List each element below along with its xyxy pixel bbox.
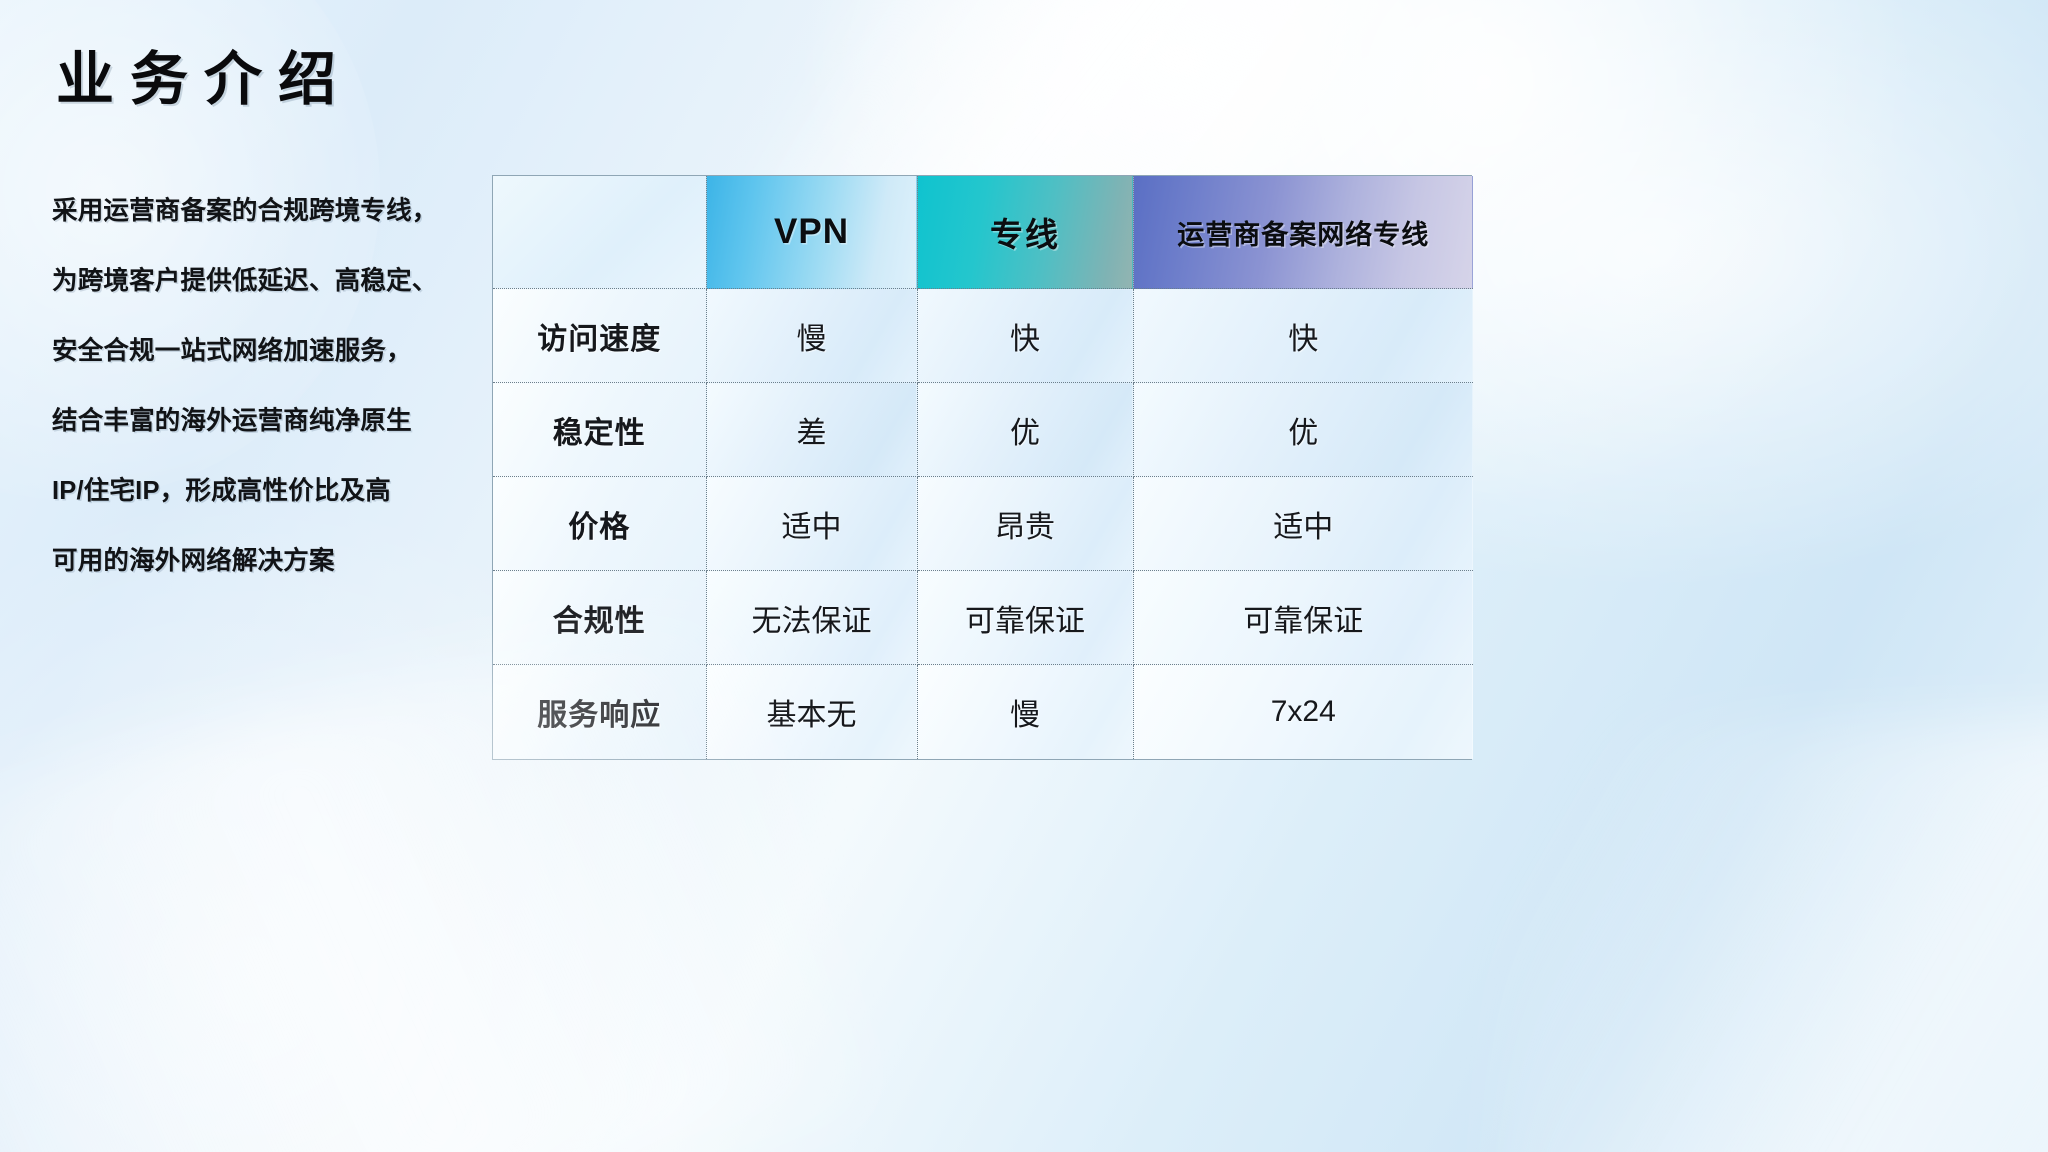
table-header-row: VPN 专线 运营商备案网络专线: [493, 176, 1473, 289]
cell-dedicated-line: 慢: [917, 665, 1133, 759]
header-label-carrier-registered-line: 运营商备案网络专线: [1177, 213, 1429, 252]
table-row: 访问速度 慢 快 快: [493, 289, 1473, 383]
header-label-dedicated-line: 专线: [990, 208, 1060, 256]
cell-dedicated-line: 可靠保证: [917, 571, 1133, 665]
row-label: 访问速度: [493, 289, 706, 383]
cell-carrier-registered-line: 7x24: [1133, 665, 1473, 759]
page-title: 业务介绍: [56, 48, 352, 112]
cell-dedicated-line: 优: [917, 383, 1133, 477]
table-row: 合规性 无法保证 可靠保证 可靠保证: [493, 571, 1473, 665]
intro-line: 结合丰富的海外运营商纯净原生: [52, 386, 482, 456]
cell-dedicated-line: 快: [917, 289, 1133, 383]
table-row: 稳定性 差 优 优: [493, 383, 1473, 477]
intro-line: 安全合规一站式网络加速服务，: [52, 316, 482, 386]
header-cell-vpn: VPN: [706, 176, 917, 289]
header-cell-carrier-registered-line: 运营商备案网络专线: [1133, 176, 1473, 289]
slide-canvas: 业务介绍 采用运营商备案的合规跨境专线， 为跨境客户提供低延迟、高稳定、 安全合…: [0, 0, 2048, 1152]
cell-vpn: 慢: [706, 289, 917, 383]
background-glow-bottom-right: [1500, 720, 2048, 1152]
intro-line: 可用的海外网络解决方案: [52, 526, 482, 596]
header-cell-blank: [493, 176, 706, 289]
table-body: 访问速度 慢 快 快 稳定性 差 优 优 价格 适中 昂贵 适中: [493, 289, 1473, 760]
comparison-table-grid: VPN 专线 运营商备案网络专线 访问速度 慢 快 快: [493, 176, 1473, 759]
cell-carrier-registered-line: 优: [1133, 383, 1473, 477]
table-row: 服务响应 基本无 慢 7x24: [493, 665, 1473, 759]
intro-line: 采用运营商备案的合规跨境专线，: [52, 176, 482, 246]
cell-vpn: 差: [706, 383, 917, 477]
cell-carrier-registered-line: 快: [1133, 289, 1473, 383]
intro-paragraph: 采用运营商备案的合规跨境专线， 为跨境客户提供低延迟、高稳定、 安全合规一站式网…: [52, 176, 482, 596]
intro-line: 为跨境客户提供低延迟、高稳定、: [52, 246, 482, 316]
cell-vpn: 适中: [706, 477, 917, 571]
row-label: 合规性: [493, 571, 706, 665]
cell-carrier-registered-line: 适中: [1133, 477, 1473, 571]
row-label: 稳定性: [493, 383, 706, 477]
table-row: 价格 适中 昂贵 适中: [493, 477, 1473, 571]
header-cell-dedicated-line: 专线: [917, 176, 1133, 289]
cell-carrier-registered-line: 可靠保证: [1133, 571, 1473, 665]
comparison-table: VPN 专线 运营商备案网络专线 访问速度 慢 快 快: [492, 175, 1472, 760]
intro-line: IP/住宅IP，形成高性价比及高: [52, 456, 482, 526]
row-label: 服务响应: [493, 665, 706, 759]
table-header: VPN 专线 运营商备案网络专线: [493, 176, 1473, 289]
header-label-vpn: VPN: [774, 212, 849, 252]
row-label: 价格: [493, 477, 706, 571]
cell-vpn: 无法保证: [706, 571, 917, 665]
cell-vpn: 基本无: [706, 665, 917, 759]
cell-dedicated-line: 昂贵: [917, 477, 1133, 571]
